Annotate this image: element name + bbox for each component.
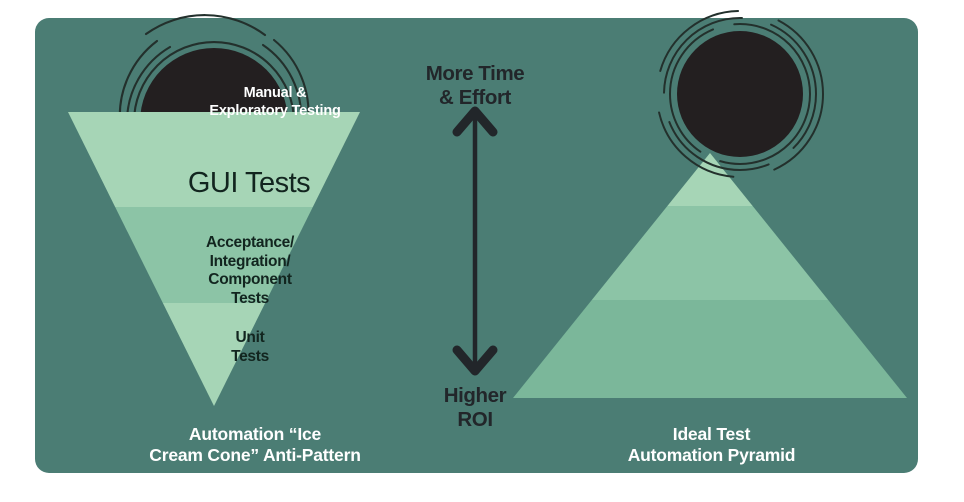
ideal-pyramid-graphic (505, 18, 918, 473)
right-diagram-ideal-pyramid: Manual & Exploratory Testing Automated G… (505, 18, 918, 473)
teal-card-background: Manual & Exploratory Testing GUI Tests A… (35, 18, 918, 473)
right-diagram-caption: Ideal Test Automation Pyramid (505, 424, 918, 467)
manual-exploratory-circle (677, 31, 803, 157)
cone-band-gui (55, 112, 375, 207)
pyramid-bands (505, 138, 918, 400)
cone-band-unit (55, 303, 375, 413)
pyramid-band-unit (505, 300, 918, 400)
cone-bands (55, 112, 375, 413)
diagram-canvas: Manual & Exploratory Testing GUI Tests A… (0, 0, 964, 502)
cone-band-acceptance (55, 207, 375, 303)
pyramid-band-acceptance (505, 206, 918, 300)
